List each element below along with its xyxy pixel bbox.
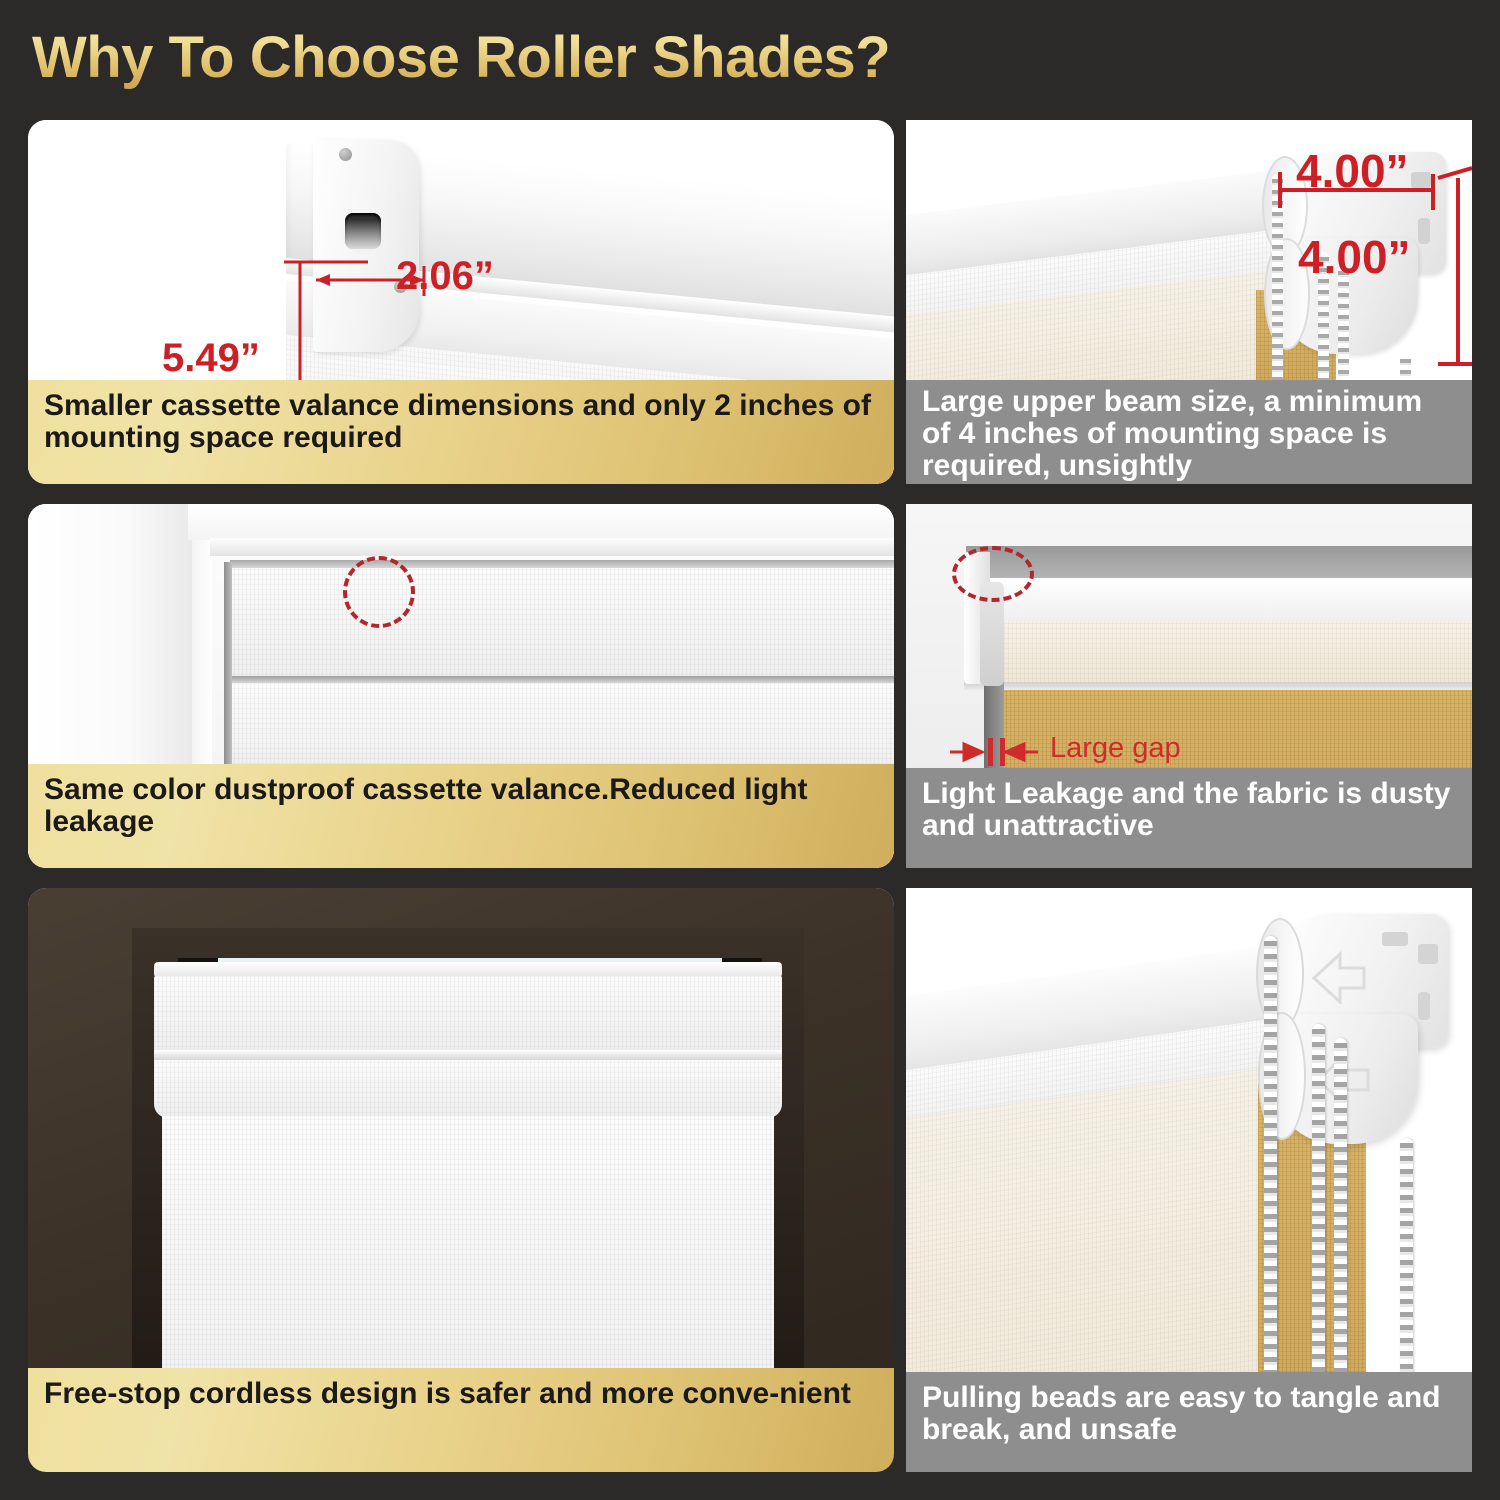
caption-bad-beam-dimensions: Large upper beam size, a minimum of 4 in…	[906, 380, 1472, 484]
panel-bad-large-gap: Large gap Light Leakage and the fabric i…	[906, 504, 1472, 868]
caption-bad-beaded-chain: Pulling beads are easy to tangle and bre…	[906, 1372, 1472, 1472]
caption-good-smaller-gap: Same color dustproof cassette valance.Re…	[28, 764, 894, 868]
page-title: Why To Choose Roller Shades?	[32, 24, 890, 91]
caption-good-cordless: Free-stop cordless design is safer and m…	[28, 1368, 894, 1472]
gap-label: Large gap	[1050, 732, 1181, 765]
panel-good-cordless: Free-stop cordless design is safer and m…	[28, 888, 894, 1472]
height-dimension-label: 5.49”	[162, 336, 260, 381]
caption-bad-large-gap: Light Leakage and the fabric is dusty an…	[906, 768, 1472, 868]
panel-bad-beaded-chain: Pulling beads are easy to tangle and bre…	[906, 888, 1472, 1472]
height-dimension-label: 4.00”	[1298, 230, 1411, 284]
caption-good-cassette-dimensions: Smaller cassette valance dimensions and …	[28, 380, 894, 484]
arrow-emboss-icon	[1306, 944, 1376, 1004]
panel-good-smaller-gap: smaller gap Same color dustproof cassett…	[28, 504, 894, 868]
width-dimension-label: 2.06”	[396, 254, 494, 299]
panel-bad-beam-dimensions: 4.00” 4.00” Large upper beam size, a min…	[906, 120, 1472, 484]
width-dimension-label: 4.00”	[1296, 144, 1409, 198]
panel-good-cassette-dimensions: 2.06” 5.49” Smaller cassette valance dim…	[28, 120, 894, 484]
